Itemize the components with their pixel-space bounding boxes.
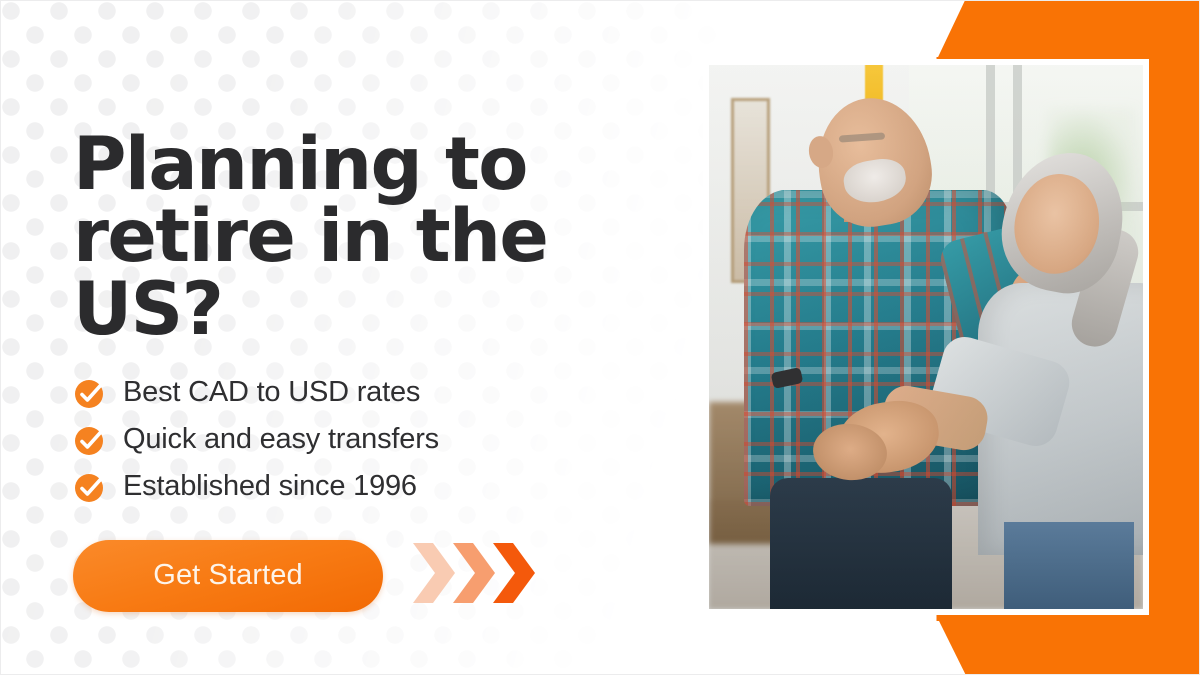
chevron-right-icon: [491, 541, 537, 610]
hero-photo-card: [703, 59, 1149, 615]
man-jeans: [770, 478, 952, 609]
orange-accent-bottom-right: [909, 616, 1199, 674]
list-item: Best CAD to USD rates: [73, 376, 693, 410]
chevron-decoration: [411, 541, 537, 610]
hero-photo: [709, 65, 1143, 609]
check-circle-icon: [73, 470, 107, 504]
retirement-promo-banner: Planning to retire in the US? Best CAD t…: [0, 0, 1200, 675]
promo-content: Planning to retire in the US? Best CAD t…: [73, 129, 693, 612]
list-item: Established since 1996: [73, 470, 693, 504]
headline-line-2: retire in the US?: [73, 201, 693, 346]
page-title: Planning to retire in the US?: [73, 129, 693, 346]
list-item: Quick and easy transfers: [73, 423, 693, 457]
get-started-button[interactable]: Get Started: [73, 540, 383, 612]
headline-line-1: Planning to: [73, 129, 693, 201]
orange-accent-top-right: [909, 1, 1199, 59]
benefit-label: Best CAD to USD rates: [123, 376, 420, 409]
check-circle-icon: [73, 423, 107, 457]
cta-row: Get Started: [73, 540, 693, 612]
benefit-list: Best CAD to USD rates Quick and easy tra…: [73, 376, 693, 504]
benefit-label: Quick and easy transfers: [123, 423, 439, 456]
woman-jeans: [1004, 522, 1134, 609]
photo-scene: [709, 65, 1143, 609]
benefit-label: Established since 1996: [123, 470, 417, 503]
check-circle-icon: [73, 376, 107, 410]
